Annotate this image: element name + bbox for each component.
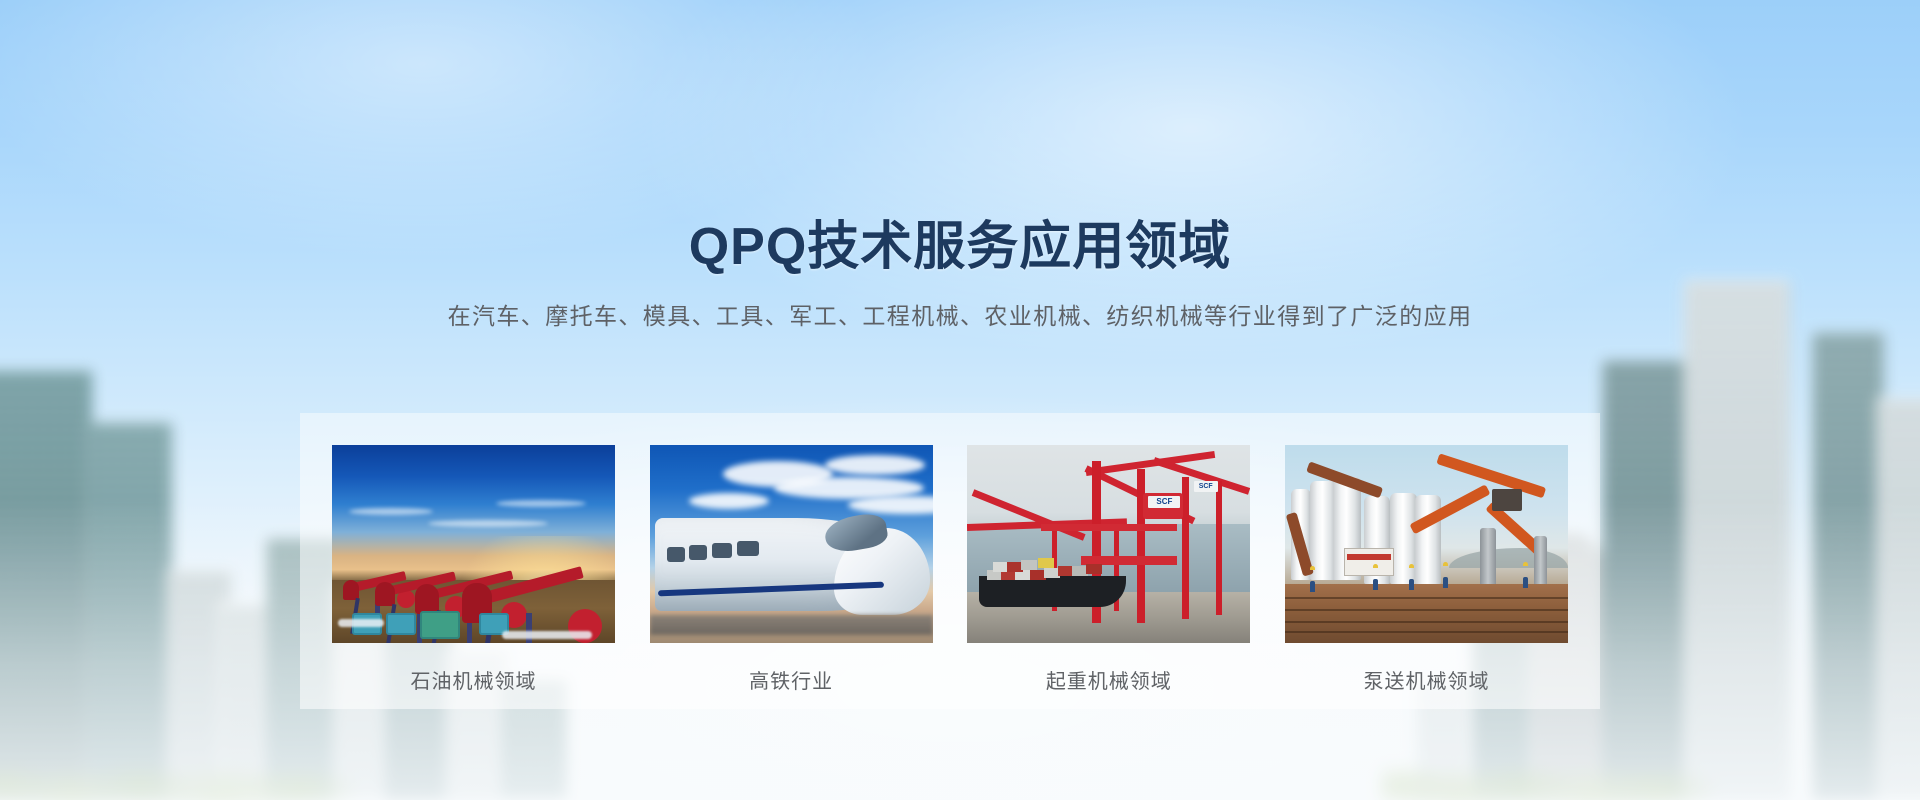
container-ship bbox=[979, 576, 1126, 608]
card-caption: 高铁行业 bbox=[650, 665, 933, 694]
train-window bbox=[737, 541, 759, 556]
distant-hills bbox=[1449, 548, 1568, 568]
oil-pumpjack-image bbox=[332, 445, 615, 643]
cloud bbox=[349, 508, 433, 515]
hard-hat bbox=[1443, 562, 1448, 566]
hard-hat bbox=[1310, 566, 1315, 570]
card-thumbnail[interactable]: SCF SCF bbox=[967, 445, 1250, 643]
train-window bbox=[667, 547, 685, 562]
card-caption: 起重机械领域 bbox=[967, 665, 1250, 694]
worker bbox=[1310, 581, 1315, 592]
scf-logo-label: SCF bbox=[1148, 496, 1180, 508]
railway-track bbox=[650, 615, 933, 635]
wellhead-valve bbox=[386, 613, 416, 635]
worker bbox=[1409, 579, 1414, 590]
scf-logo-label: SCF bbox=[1194, 481, 1218, 492]
card-thumbnail[interactable] bbox=[1285, 445, 1568, 643]
cloud bbox=[774, 477, 924, 499]
card-thumbnail[interactable] bbox=[650, 445, 933, 643]
hero-banner: QPQ技术服务应用领域 在汽车、摩托车、模具、工具、军工、工程机械、农业机械、纺… bbox=[0, 0, 1920, 800]
site-banner bbox=[1344, 548, 1394, 576]
application-cards-list: 石油机械领域 bbox=[332, 445, 1568, 694]
page-subtitle: 在汽车、摩托车、模具、工具、军工、工程机械、农业机械、纺织机械等行业得到了广泛的… bbox=[0, 300, 1920, 332]
hero-text-block: QPQ技术服务应用领域 在汽车、摩托车、模具、工具、军工、工程机械、农业机械、纺… bbox=[0, 218, 1920, 332]
card-caption: 石油机械领域 bbox=[332, 665, 615, 694]
hard-hat bbox=[1523, 562, 1528, 566]
page-title: QPQ技术服务应用领域 bbox=[0, 218, 1920, 276]
train-window bbox=[689, 545, 707, 560]
crane-leg bbox=[1137, 469, 1145, 623]
card-high-speed-rail[interactable]: 高铁行业 bbox=[650, 445, 933, 694]
container bbox=[1086, 564, 1102, 574]
worker bbox=[1373, 579, 1378, 590]
worker bbox=[1443, 577, 1448, 588]
wellhead-valve bbox=[420, 611, 460, 639]
rebar-line bbox=[1285, 597, 1568, 599]
site-banner-text bbox=[1347, 554, 1391, 560]
card-thumbnail[interactable] bbox=[332, 445, 615, 643]
pump-cabin bbox=[1492, 489, 1522, 511]
construction-deck bbox=[1285, 584, 1568, 643]
hard-hat bbox=[1373, 564, 1378, 568]
concrete-pump-plant-image bbox=[1285, 445, 1568, 643]
worker bbox=[1523, 577, 1528, 588]
rebar-line bbox=[1285, 631, 1568, 633]
cloud bbox=[825, 455, 925, 475]
container bbox=[1021, 560, 1037, 570]
port-gantry-crane-image: SCF SCF bbox=[967, 445, 1250, 643]
crane-leg bbox=[1216, 481, 1222, 616]
cloud bbox=[496, 500, 586, 507]
card-lifting-machinery[interactable]: SCF SCF bbox=[967, 445, 1250, 694]
container bbox=[1038, 558, 1054, 568]
high-speed-train-image bbox=[650, 445, 933, 643]
rebar-line bbox=[1285, 609, 1568, 611]
cloud bbox=[428, 520, 548, 527]
train-window bbox=[712, 543, 732, 558]
cloud bbox=[689, 493, 769, 509]
crane-leg bbox=[1182, 477, 1189, 620]
snow-patch bbox=[502, 631, 592, 639]
snow-patch bbox=[338, 619, 384, 627]
card-oil-machinery[interactable]: 石油机械领域 bbox=[332, 445, 615, 694]
card-caption: 泵送机械领域 bbox=[1285, 665, 1568, 694]
cloud bbox=[848, 496, 933, 514]
card-pumping-machinery[interactable]: 泵送机械领域 bbox=[1285, 445, 1568, 694]
rebar-line bbox=[1285, 621, 1568, 623]
crane-girder bbox=[1041, 524, 1177, 531]
application-fields-panel: 石油机械领域 bbox=[300, 413, 1600, 709]
cement-silo bbox=[1415, 495, 1441, 584]
